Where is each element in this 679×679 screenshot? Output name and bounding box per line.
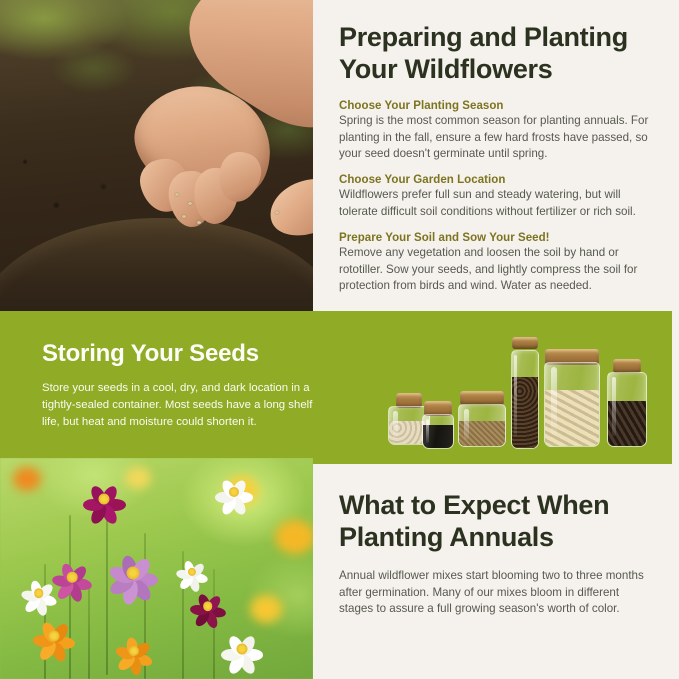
glass-highlight: [612, 377, 616, 436]
purple-cosmos: [188, 586, 228, 626]
page-title: Preparing and Planting Your Wildflowers: [339, 22, 655, 86]
top-section: Preparing and Planting Your Wildflowers …: [0, 0, 679, 311]
cork-lid: [512, 337, 538, 349]
flower-center: [99, 493, 110, 504]
subheading: Choose Your Planting Season: [339, 100, 655, 112]
flower-center: [127, 567, 140, 580]
body-paragraph: Wildflowers prefer full sun and steady w…: [339, 187, 655, 221]
infographic-page: Preparing and Planting Your Wildflowers …: [0, 0, 679, 679]
storing-seeds-band: Storing Your Seeds Store your seeds in a…: [0, 311, 672, 464]
band-title: Storing Your Seeds: [42, 340, 332, 368]
seed: [188, 202, 192, 205]
magenta-cosmos: [81, 476, 127, 522]
glass-highlight: [426, 419, 430, 443]
prepare-soil-block: Prepare Your Soil and Sow Your Seed! Rem…: [339, 232, 655, 295]
blurred-flower: [275, 520, 313, 554]
pumpkin-seed-jar: [544, 349, 600, 447]
blurred-flower: [125, 467, 151, 489]
sunflower-seed-jar: [607, 359, 647, 447]
bottom-section: What to Expect When Planting Annuals Ann…: [0, 464, 679, 679]
flower-center: [67, 572, 78, 583]
band-paragraph: Store your seeds in a cool, dry, and dar…: [42, 380, 332, 431]
glass-highlight: [464, 409, 469, 440]
black-seed-jar: [422, 401, 454, 449]
body-paragraph: Spring is the most common season for pla…: [339, 113, 655, 163]
hands-sowing-seeds-image: [0, 0, 313, 311]
flower-center: [34, 588, 44, 598]
dark-speckled-vial: [511, 337, 539, 449]
white-cosmos: [213, 471, 255, 513]
white-cosmos: [19, 573, 59, 613]
glass-highlight: [551, 367, 557, 435]
glass-highlight: [393, 411, 398, 439]
band-right-margin: [672, 311, 679, 464]
bottom-paragraph: Annual wildflower mixes start blooming t…: [339, 568, 653, 618]
seed: [197, 221, 201, 224]
cork-lid: [460, 391, 504, 405]
white-cosmos: [175, 555, 209, 589]
flower-center: [237, 643, 248, 654]
blurred-flower: [13, 467, 41, 491]
lavender-cosmos: [106, 546, 160, 600]
band-text-column: Storing Your Seeds Store your seeds in a…: [42, 340, 332, 431]
subheading: Prepare Your Soil and Sow Your Seed!: [339, 232, 655, 244]
orange-cosmos: [113, 630, 155, 672]
top-text-column: Preparing and Planting Your Wildflowers …: [313, 0, 679, 311]
brown-grain-jar: [458, 391, 506, 447]
flower-center: [49, 630, 60, 641]
cosmos-wildflowers-image: [0, 458, 313, 679]
glass-highlight: [514, 355, 517, 436]
bottom-section-title: What to Expect When Planting Annuals: [339, 490, 653, 554]
orange-cosmos: [31, 613, 77, 659]
seed-storage-jars-image: [378, 325, 668, 455]
planting-season-block: Choose Your Planting Season Spring is th…: [339, 100, 655, 163]
garden-location-block: Choose Your Garden Location Wildflowers …: [339, 174, 655, 221]
flower-center: [203, 601, 213, 611]
seed: [182, 215, 186, 218]
subheading: Choose Your Garden Location: [339, 174, 655, 186]
white-cosmos: [219, 626, 265, 672]
body-paragraph: Remove any vegetation and loosen the soi…: [339, 245, 655, 295]
cork-lid: [613, 359, 641, 373]
bottom-text-column: What to Expect When Planting Annuals Ann…: [313, 464, 679, 679]
